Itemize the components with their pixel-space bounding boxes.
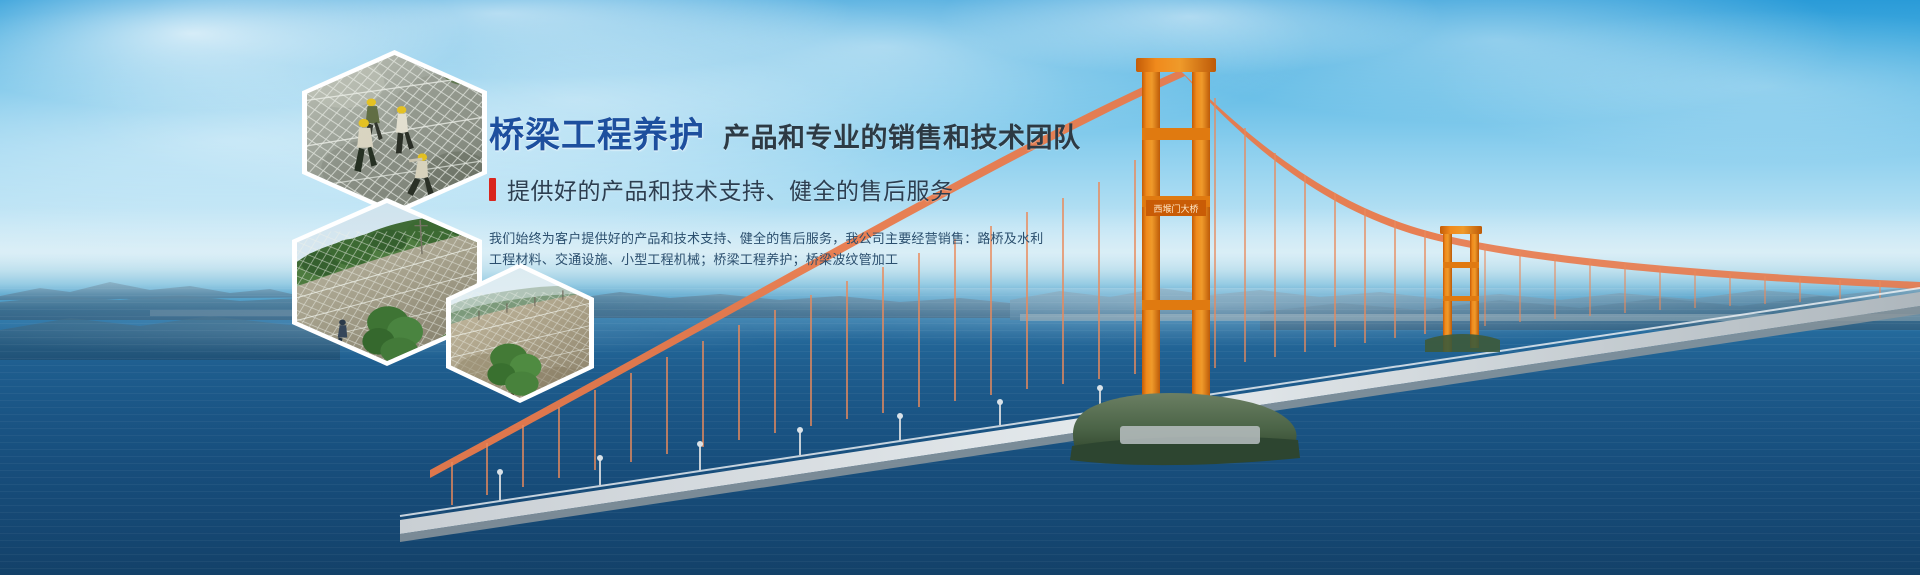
subheadline-text: 提供好的产品和技术支持、健全的售后服务 [507,172,954,206]
slope-netting-workers-photo [307,55,482,210]
headline-main: 桥梁工程养护 [489,118,705,153]
subheadline-row: 提供好的产品和技术支持、健全的售后服务 [489,172,1189,206]
headline-sub: 产品和专业的销售和技术团队 [723,125,1081,152]
accent-bar-icon [489,178,496,201]
embankment-netting-photo [451,268,589,398]
body-line-2: 工程材料、交通设施、小型工程机械；桥梁工程养护；桥梁波纹管加工 [489,249,879,270]
body-line-1: 我们始终为客户提供好的产品和技术支持、健全的售后服务，我公司主要经营销售：路桥及… [489,228,879,249]
hero-banner: 西堠门大桥 [0,0,1920,575]
body-paragraph: 我们始终为客户提供好的产品和技术支持、健全的售后服务，我公司主要经营销售：路桥及… [489,228,879,270]
banner-text-block: 桥梁工程养护 产品和专业的销售和技术团队 提供好的产品和技术支持、健全的售后服务… [489,118,1189,270]
headline-row: 桥梁工程养护 产品和专业的销售和技术团队 [489,118,1189,153]
gallery-hex-1[interactable] [302,50,487,215]
hexagon-photo-gallery [0,0,1920,575]
